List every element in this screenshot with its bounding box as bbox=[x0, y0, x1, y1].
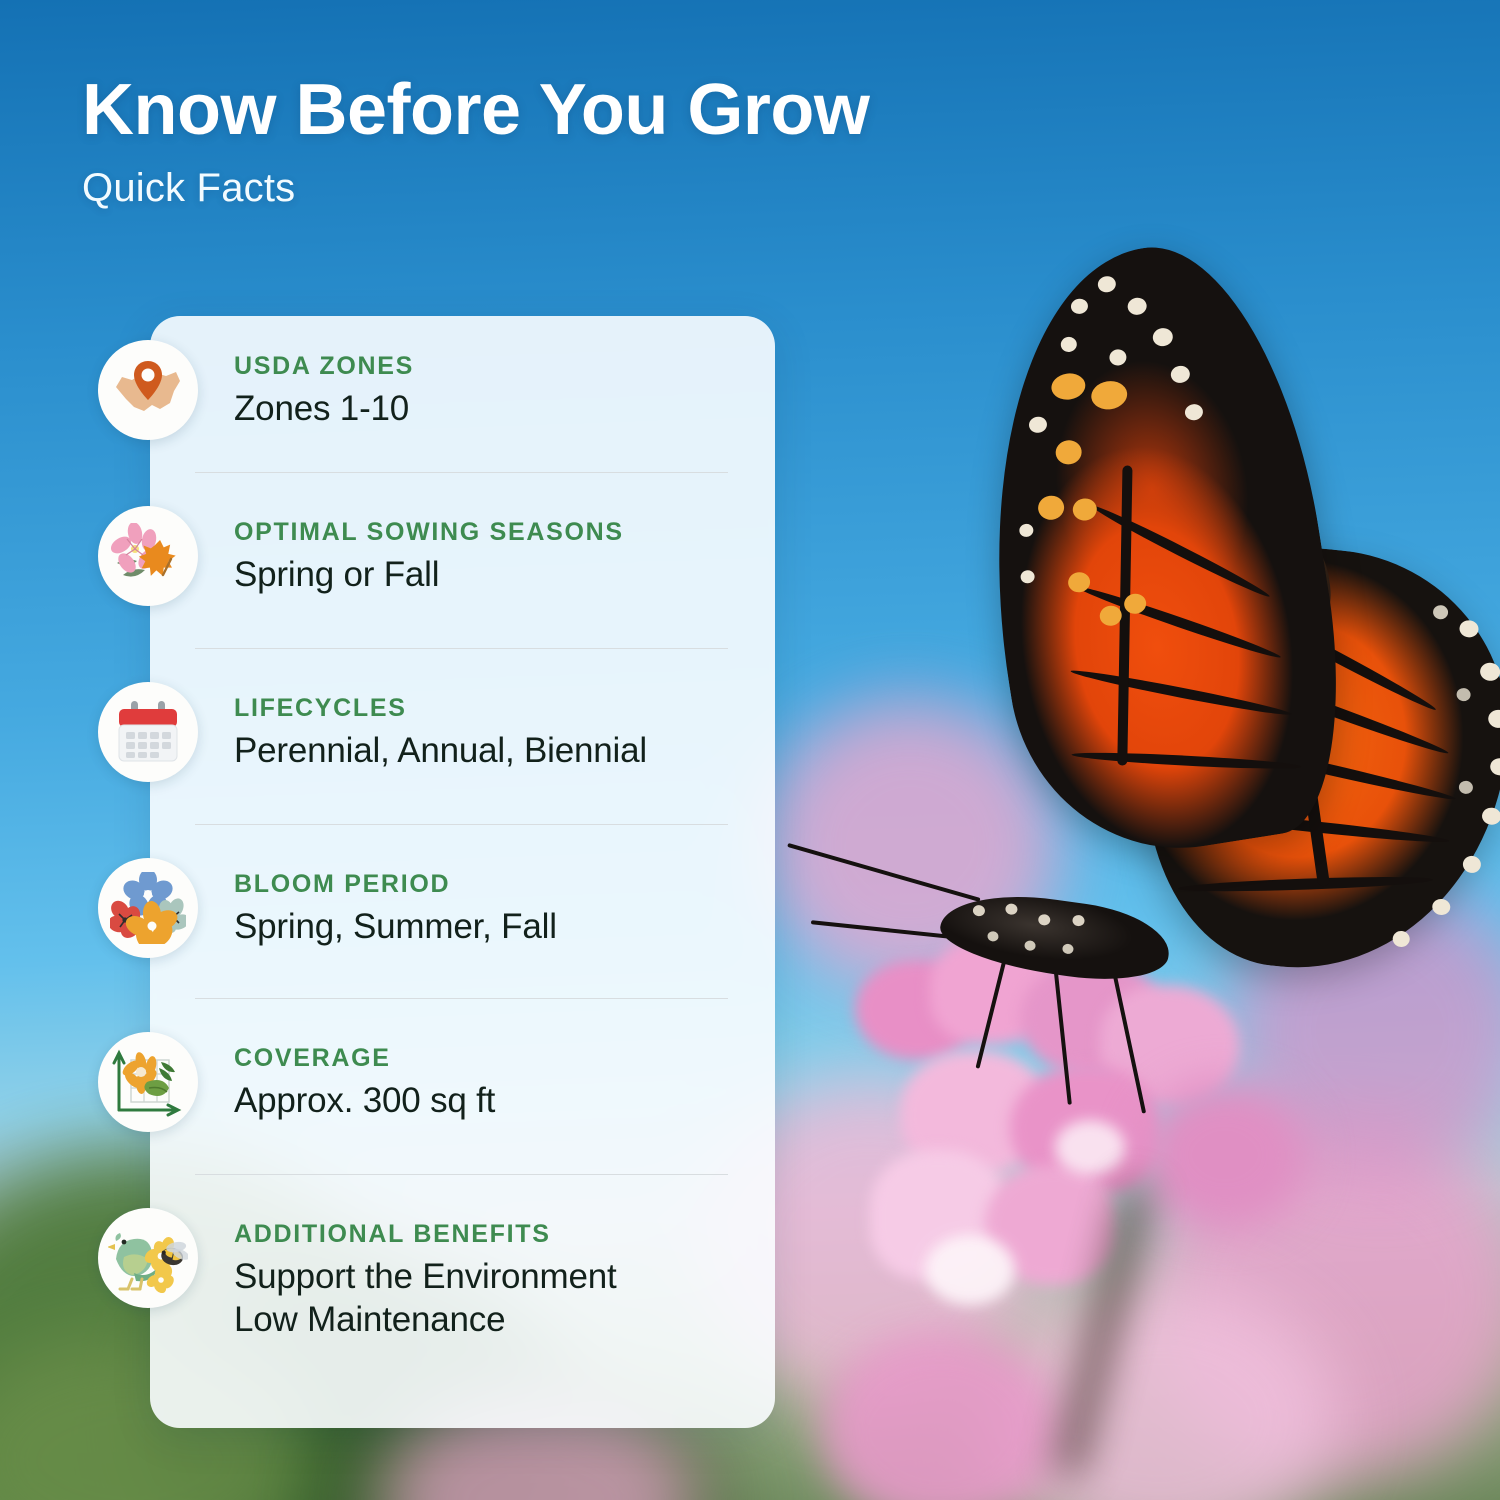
header: Know Before You Grow Quick Facts bbox=[82, 74, 1082, 211]
body-spot bbox=[1024, 940, 1036, 951]
wing-spot bbox=[1432, 605, 1448, 620]
flower-cluster-icon bbox=[98, 858, 198, 958]
fact-value: Spring or Fall bbox=[234, 554, 735, 597]
wing-spot bbox=[1097, 275, 1117, 294]
wing-spot bbox=[1054, 438, 1083, 466]
body-spot bbox=[1062, 943, 1074, 954]
wing-spot bbox=[1018, 523, 1034, 538]
wing-spot bbox=[1489, 757, 1500, 776]
blossom-leaf-icon bbox=[98, 506, 198, 606]
wing-spot bbox=[1459, 619, 1480, 638]
fact-row: OPTIMAL SOWING SEASONSSpring or Fall bbox=[150, 472, 775, 648]
row-divider bbox=[195, 998, 728, 999]
wing-spot bbox=[1070, 298, 1089, 315]
page-title: Know Before You Grow bbox=[82, 74, 1082, 146]
fact-label: OPTIMAL SOWING SEASONS bbox=[234, 518, 735, 547]
abdomen bbox=[936, 884, 1174, 989]
wing-spot bbox=[1479, 662, 1500, 682]
fact-row: ADDITIONAL BENEFITSSupport the Environme… bbox=[150, 1174, 775, 1374]
wing-vein bbox=[1089, 501, 1272, 601]
wing-spot bbox=[1036, 494, 1065, 522]
body-spot bbox=[987, 931, 999, 942]
wing-spot bbox=[1071, 497, 1098, 522]
wing-spot bbox=[1458, 780, 1473, 794]
fact-label: ADDITIONAL BENEFITS bbox=[234, 1220, 735, 1249]
row-divider bbox=[195, 824, 728, 825]
wing-spot bbox=[1089, 379, 1129, 412]
fact-label: BLOOM PERIOD bbox=[234, 870, 735, 899]
row-divider bbox=[195, 472, 728, 473]
body-spot bbox=[1072, 914, 1085, 927]
fact-label: USDA ZONES bbox=[234, 352, 735, 381]
wing-spot bbox=[1392, 930, 1411, 948]
body-spot bbox=[972, 904, 985, 917]
body-spot bbox=[1005, 903, 1018, 916]
wing-spot bbox=[1170, 364, 1191, 384]
wing-spot bbox=[1126, 296, 1147, 316]
blossom-petal bbox=[1140, 1080, 1310, 1230]
fact-value: Support the Environment Low Maintenance bbox=[234, 1256, 735, 1341]
forewing bbox=[945, 228, 1365, 872]
wing-spot bbox=[1487, 709, 1500, 729]
wing-spot bbox=[1431, 898, 1451, 916]
wing-spot bbox=[1152, 327, 1175, 348]
wing-vein bbox=[1178, 874, 1433, 894]
fact-value: Spring, Summer, Fall bbox=[234, 906, 735, 949]
fact-label: COVERAGE bbox=[234, 1044, 735, 1073]
body-spot bbox=[1038, 914, 1051, 927]
fact-value: Approx. 300 sq ft bbox=[234, 1080, 735, 1123]
page-subtitle: Quick Facts bbox=[82, 166, 1082, 211]
wing-spot bbox=[1481, 807, 1500, 826]
wing-spot bbox=[1060, 336, 1078, 353]
wing-spot bbox=[1050, 371, 1088, 402]
blossom-highlight bbox=[925, 1235, 1015, 1305]
row-divider bbox=[195, 1174, 728, 1175]
fact-row: USDA ZONESZones 1-10 bbox=[150, 316, 775, 472]
wing-spot bbox=[1108, 348, 1127, 366]
monarch-butterfly bbox=[930, 250, 1500, 1010]
wing-spot bbox=[1184, 403, 1204, 422]
fact-value: Perennial, Annual, Biennial bbox=[234, 730, 735, 773]
wing-spot bbox=[1020, 569, 1036, 584]
fact-row: LIFECYCLESPerennial, Annual, Biennial bbox=[150, 648, 775, 824]
blossom-highlight bbox=[1055, 1120, 1125, 1175]
fact-row: BLOOM PERIODSpring, Summer, Fall bbox=[150, 824, 775, 998]
fact-row: COVERAGEApprox. 300 sq ft bbox=[150, 998, 775, 1174]
wing-vein bbox=[1070, 666, 1293, 719]
usa-map-pin-icon bbox=[98, 340, 198, 440]
fact-value: Zones 1-10 bbox=[234, 388, 735, 431]
bird-bee-icon bbox=[98, 1208, 198, 1308]
row-divider bbox=[195, 648, 728, 649]
wing-vein bbox=[1071, 750, 1301, 772]
quick-facts-card: USDA ZONESZones 1-10 OPTIMAL SOWING SEAS… bbox=[150, 316, 775, 1428]
wing-spot bbox=[1462, 855, 1482, 874]
calendar-icon bbox=[98, 682, 198, 782]
wing-spot bbox=[1028, 415, 1048, 434]
fact-label: LIFECYCLES bbox=[234, 694, 735, 723]
wing-spot bbox=[1456, 687, 1471, 701]
area-chart-flower-icon bbox=[98, 1032, 198, 1132]
